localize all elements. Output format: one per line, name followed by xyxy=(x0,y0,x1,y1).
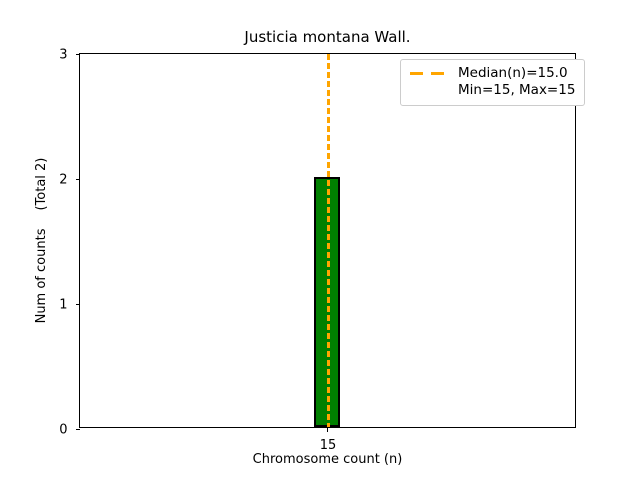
y-axis-label: Num of counts (Total 2) xyxy=(22,53,62,428)
plot-area xyxy=(80,54,575,427)
y-axis-label-line2: (Total 2) xyxy=(34,158,50,211)
median-line xyxy=(327,54,330,427)
x-axis-label: Chromosome count (n) xyxy=(79,452,576,467)
y-tick-0: 0 xyxy=(76,429,81,430)
dashed-line-icon xyxy=(410,68,448,80)
chart-figure: Justicia montana Wall. 0 1 2 3 15 xyxy=(0,0,640,480)
legend-entry-median: Median(n)=15.0 xyxy=(410,65,575,82)
x-tick-15: 15 xyxy=(327,427,328,432)
chart-title: Justicia montana Wall. xyxy=(79,28,576,46)
plot-axes: 0 1 2 3 15 Median(n)=15.0 Min=15, Max xyxy=(79,53,576,428)
legend-label-median: Median(n)=15.0 xyxy=(458,65,568,82)
legend: Median(n)=15.0 Min=15, Max=15 xyxy=(400,59,585,106)
x-tick-label-15: 15 xyxy=(320,439,337,453)
legend-label-minmax: Min=15, Max=15 xyxy=(458,82,575,99)
y-axis-label-line1: Num of counts xyxy=(34,229,50,324)
